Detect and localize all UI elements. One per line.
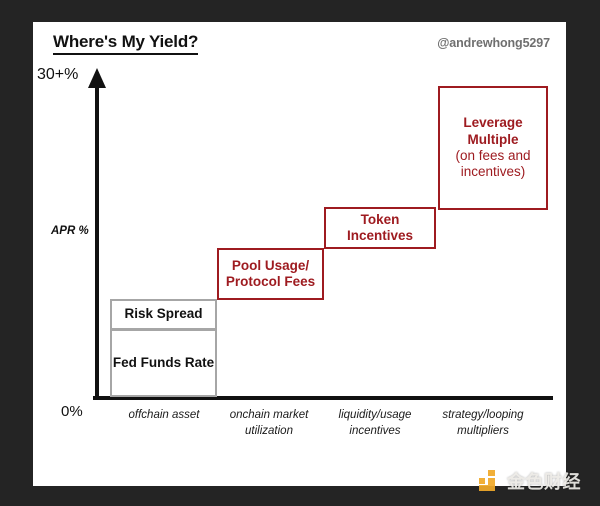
x-tick-line1: liquidity/usage (339, 409, 412, 421)
y-axis-line (95, 84, 99, 398)
segment-leverage-multiple: Leverage Multiple (on fees and incentive… (438, 86, 548, 210)
segment-label: Leverage Multiple (on fees and incentive… (455, 115, 530, 181)
chart-card: Where's My Yield? @andrewhong5297 30+% A… (33, 22, 566, 486)
page-title: Where's My Yield? (53, 32, 198, 55)
segment-label: Risk Spread (124, 306, 202, 322)
x-tick-line2: multipliers (457, 425, 509, 437)
segment-pool-usage-protocol-fees: Pool Usage/ Protocol Fees (217, 248, 324, 300)
x-tick-line1: strategy/looping (442, 409, 523, 421)
segment-label: Pool Usage/ Protocol Fees (226, 258, 315, 291)
y-axis-max-label: 30+% (37, 66, 78, 84)
segment-label-line2: Incentives (347, 228, 413, 243)
x-tick-line2: incentives (349, 425, 400, 437)
y-axis-title: APR % (51, 225, 89, 237)
watermark: 金色财经 (477, 468, 581, 494)
y-axis-min-label: 0% (61, 403, 83, 420)
segment-sublabel-line1: (on fees and (455, 148, 530, 163)
segment-label-line2: Protocol Fees (226, 274, 315, 289)
author-handle: @andrewhong5297 (437, 36, 550, 50)
x-tick-line2: utilization (245, 425, 293, 437)
segment-risk-spread: Risk Spread (110, 299, 217, 330)
segment-label-line1: Leverage (463, 115, 522, 130)
watermark-text: 金色财经 (507, 468, 581, 494)
x-tick-line1: onchain market (230, 409, 309, 421)
x-tick-line1: offchain asset (129, 409, 200, 421)
screenshot-root: Where's My Yield? @andrewhong5297 30+% A… (0, 0, 600, 506)
segment-token-incentives: Token Incentives (324, 207, 436, 249)
segment-sublabel-line2: incentives) (461, 164, 526, 179)
segment-label-line1: Pool Usage/ (232, 258, 309, 273)
jinse-logo-icon (477, 469, 501, 493)
segment-label: Token Incentives (347, 212, 413, 245)
segment-label-line1: Token (361, 212, 400, 227)
x-tick-label-strategy-looping-multipliers: strategy/looping multipliers (417, 408, 549, 439)
segment-fed-funds-rate: Fed Funds Rate (110, 329, 217, 397)
segment-label: Fed Funds Rate (113, 355, 214, 371)
segment-label-line2: Multiple (468, 132, 519, 147)
